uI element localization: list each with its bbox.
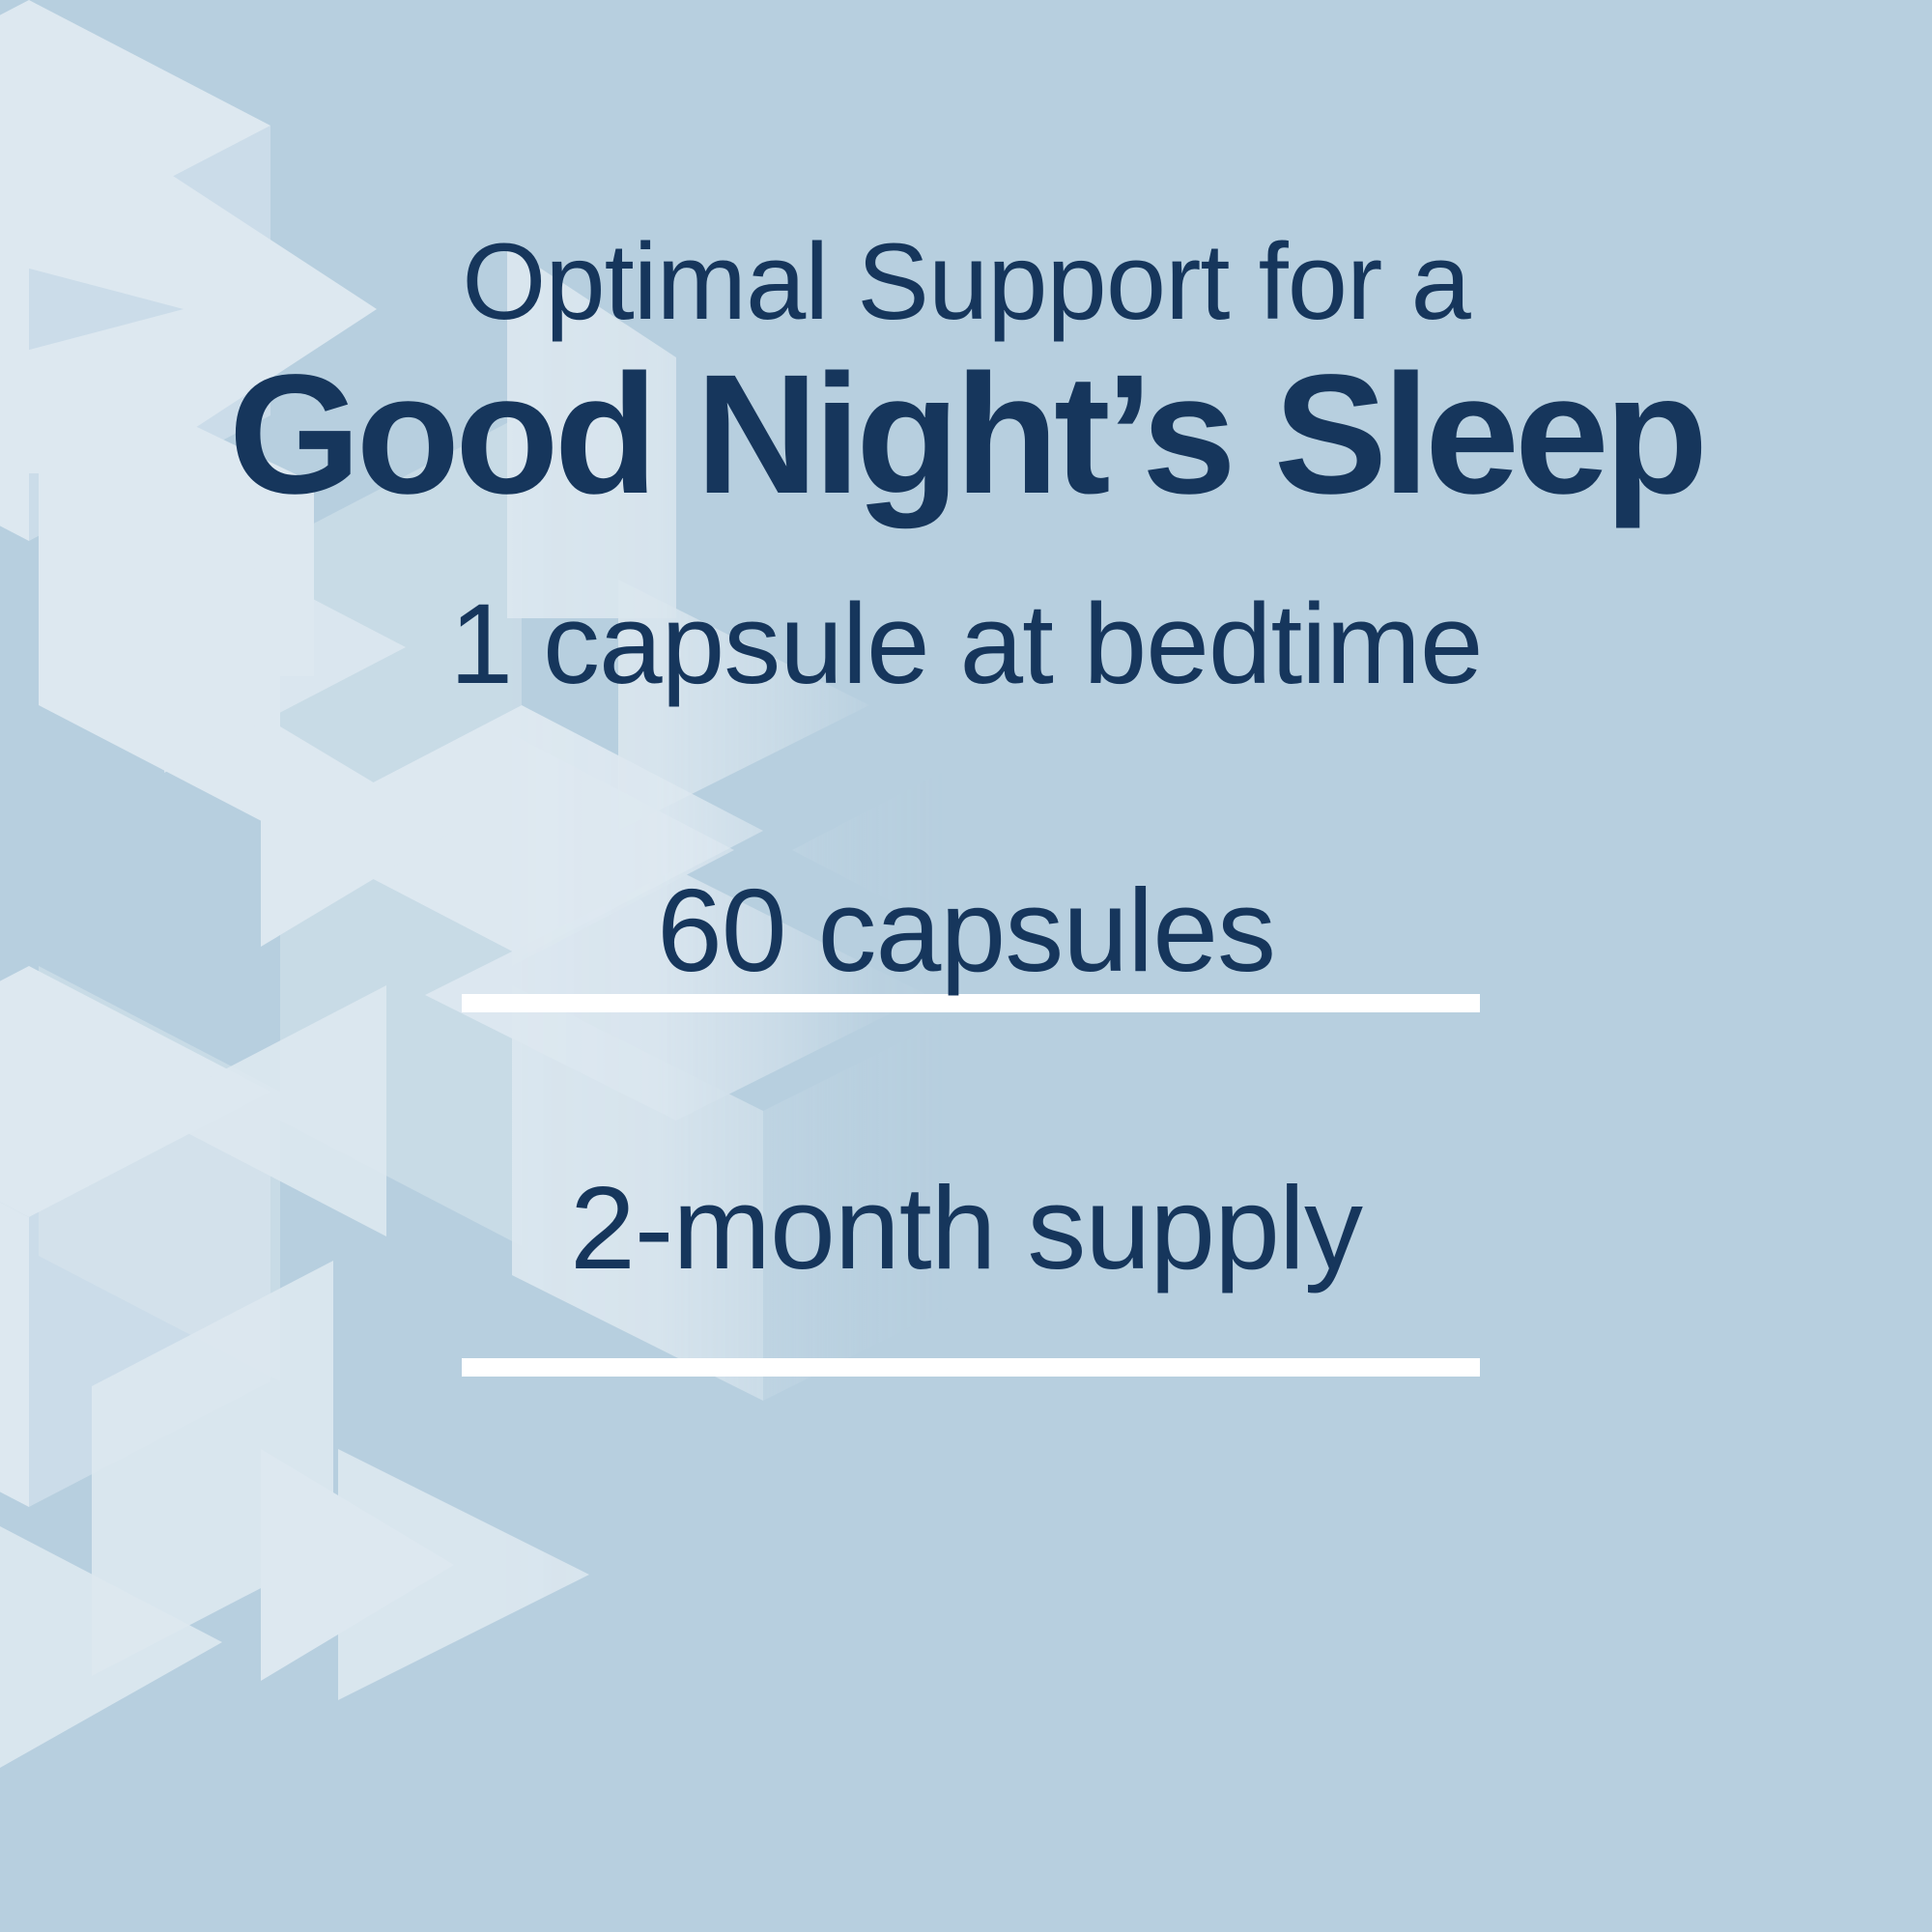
- product-info-graphic: Optimal Support for a Good Night’s Sleep…: [0, 0, 1932, 1932]
- content-stack: Optimal Support for a Good Night’s Sleep…: [0, 0, 1932, 1932]
- eyebrow-text: Optimal Support for a: [0, 228, 1932, 336]
- capsule-count-text: 60 capsules: [0, 871, 1932, 989]
- supply-duration-text: 2-month supply: [0, 1169, 1932, 1287]
- page-title: Good Night’s Sleep: [0, 350, 1932, 520]
- dosage-text: 1 capsule at bedtime: [0, 587, 1932, 701]
- divider-rule-bottom: [462, 1358, 1480, 1377]
- divider-rule-top: [462, 994, 1480, 1012]
